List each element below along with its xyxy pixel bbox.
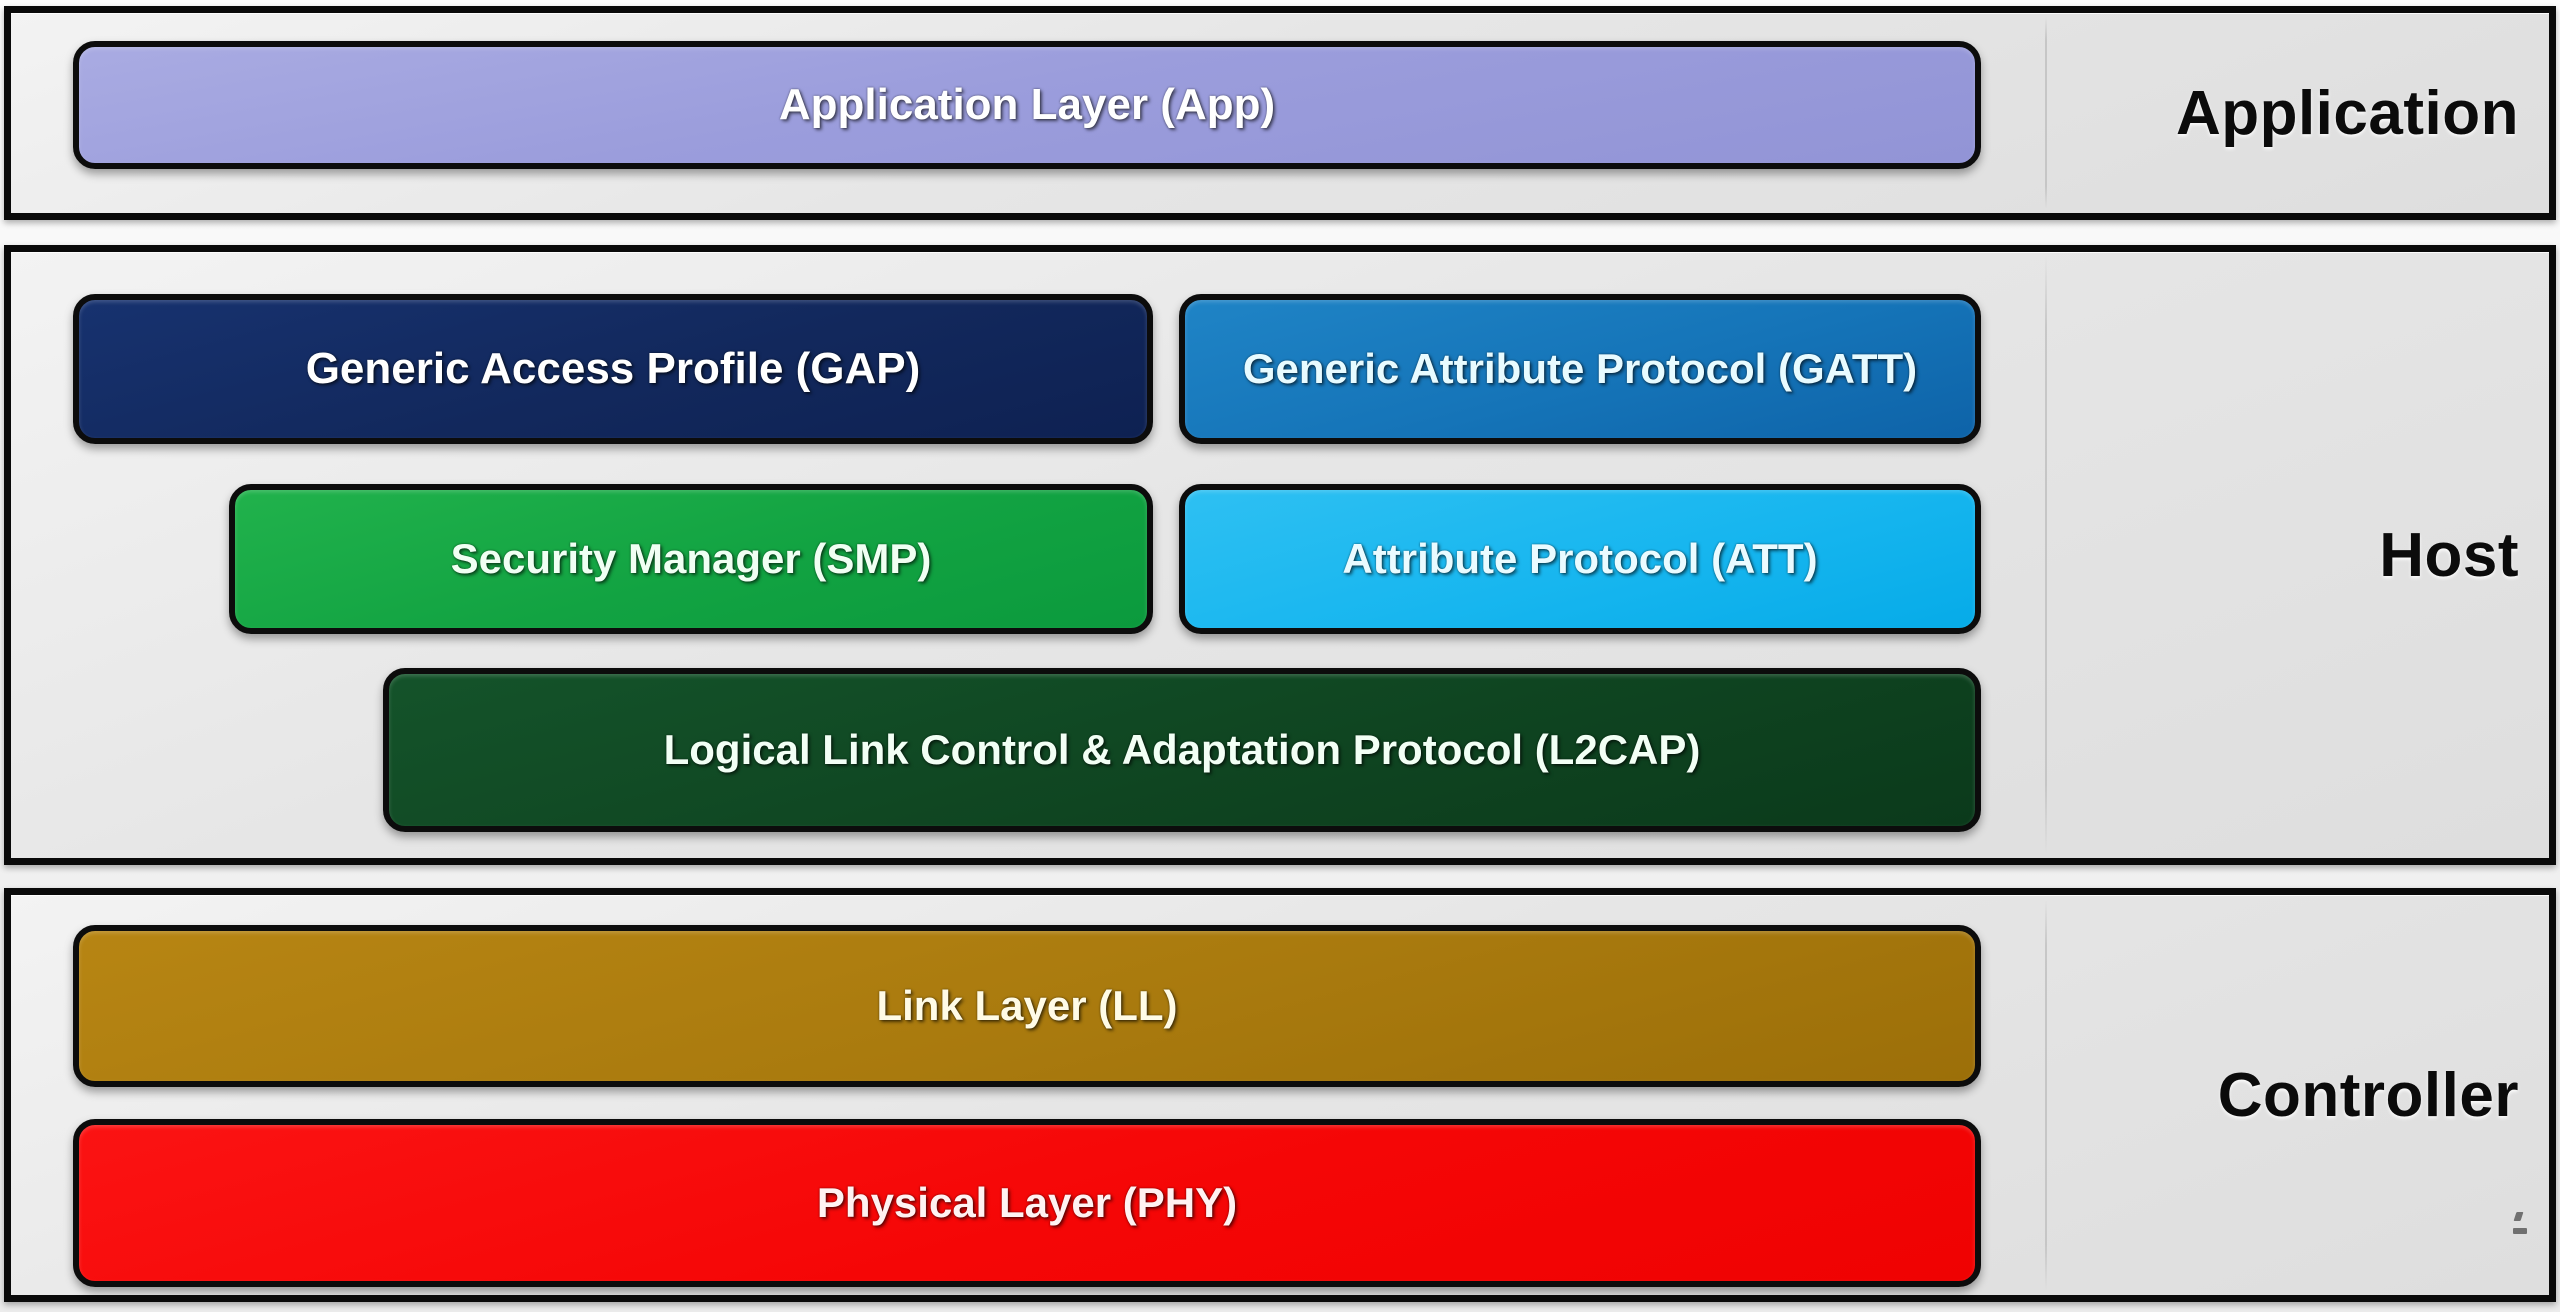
block-physical-layer[interactable]: Physical Layer (PHY) bbox=[73, 1119, 1981, 1287]
section-controller-body: Link Layer (LL) Physical Layer (PHY) bbox=[11, 895, 2045, 1295]
section-application-label: Application bbox=[2176, 13, 2519, 213]
section-application: Application Layer (App) Application bbox=[4, 6, 2556, 220]
block-attribute-protocol[interactable]: Attribute Protocol (ATT) bbox=[1179, 484, 1981, 634]
section-application-body: Application Layer (App) bbox=[11, 13, 2045, 213]
block-attribute-protocol-label: Attribute Protocol (ATT) bbox=[1342, 535, 1817, 583]
block-security-manager-label: Security Manager (SMP) bbox=[451, 535, 932, 583]
block-link-layer-label: Link Layer (LL) bbox=[876, 982, 1177, 1030]
section-host: Generic Access Profile (GAP) Generic Att… bbox=[4, 245, 2556, 865]
block-application-layer-label: Application Layer (App) bbox=[779, 80, 1275, 131]
block-l2cap[interactable]: Logical Link Control & Adaptation Protoc… bbox=[383, 668, 1981, 832]
block-security-manager[interactable]: Security Manager (SMP) bbox=[229, 484, 1153, 634]
block-generic-access-profile[interactable]: Generic Access Profile (GAP) bbox=[73, 294, 1153, 444]
section-host-divider bbox=[2045, 256, 2047, 854]
section-controller-label: Controller bbox=[2218, 895, 2519, 1295]
section-host-body: Generic Access Profile (GAP) Generic Att… bbox=[11, 252, 2045, 858]
section-controller-divider bbox=[2045, 899, 2047, 1291]
block-l2cap-label: Logical Link Control & Adaptation Protoc… bbox=[664, 726, 1701, 774]
block-generic-attribute-protocol[interactable]: Generic Attribute Protocol (GATT) bbox=[1179, 294, 1981, 444]
block-physical-layer-label: Physical Layer (PHY) bbox=[817, 1179, 1237, 1227]
ble-protocol-stack-diagram: Application Layer (App) Application Gene… bbox=[0, 0, 2560, 1312]
section-application-divider bbox=[2045, 17, 2047, 209]
section-host-label: Host bbox=[2379, 252, 2519, 858]
block-application-layer[interactable]: Application Layer (App) bbox=[73, 41, 1981, 169]
block-generic-attribute-protocol-label: Generic Attribute Protocol (GATT) bbox=[1243, 345, 1917, 393]
section-controller: Link Layer (LL) Physical Layer (PHY) Con… bbox=[4, 888, 2556, 1302]
block-link-layer[interactable]: Link Layer (LL) bbox=[73, 925, 1981, 1087]
block-generic-access-profile-label: Generic Access Profile (GAP) bbox=[306, 344, 921, 395]
